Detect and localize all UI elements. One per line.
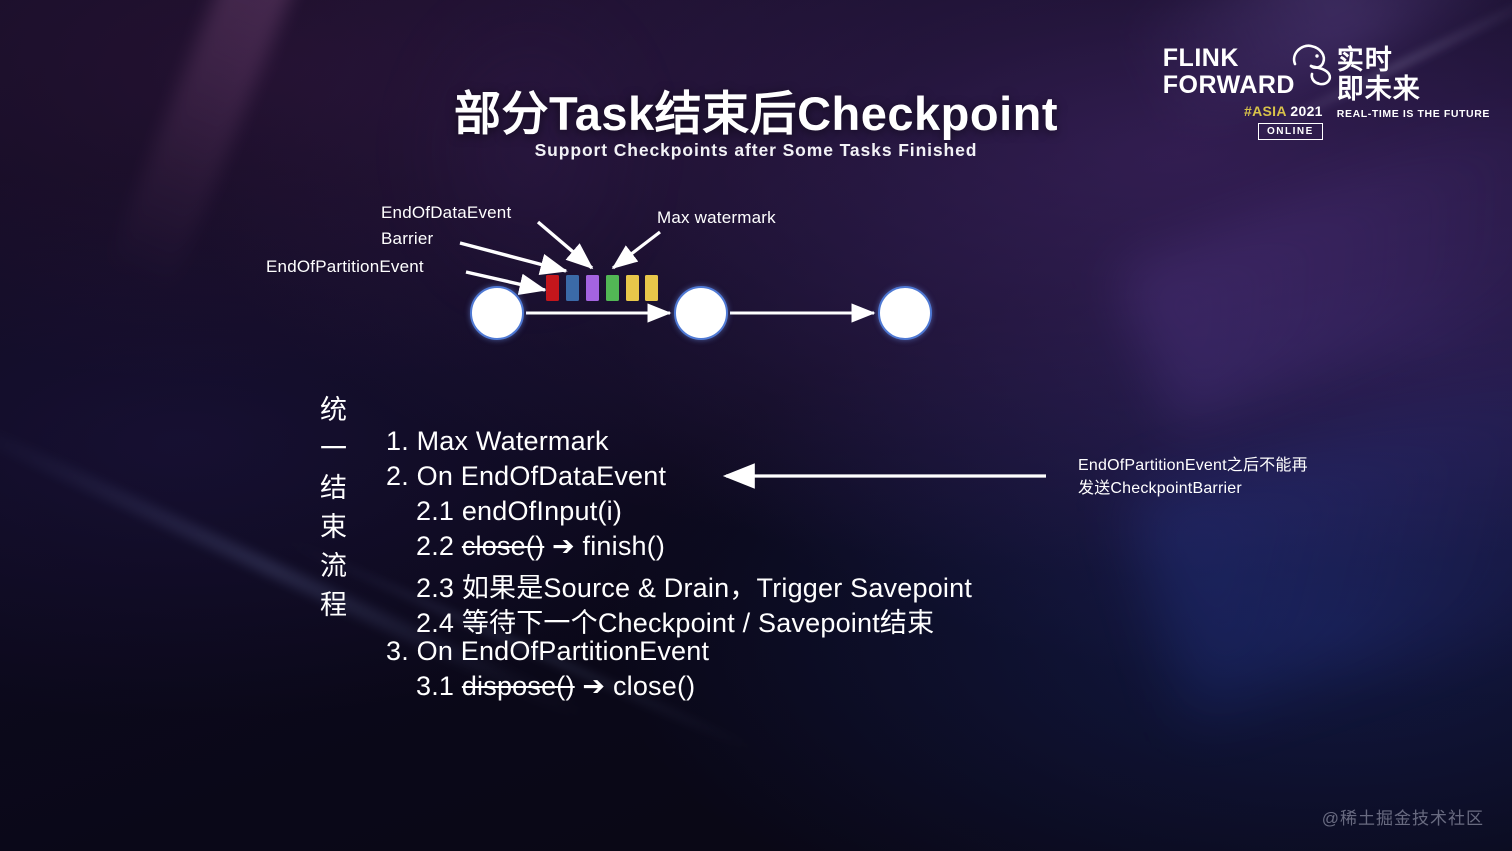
max-watermark-bar: [606, 275, 619, 301]
list-item: 2. On EndOfDataEvent: [386, 461, 666, 492]
list-item: 2.1 endOfInput(i): [416, 496, 622, 527]
list-item-number: 2.2: [416, 531, 454, 561]
record-bar-yellow-1: [626, 275, 639, 301]
page-subtitle: Support Checkpoints after Some Tasks Fin…: [0, 140, 1512, 161]
logo-cn-line1: 实时: [1337, 46, 1490, 75]
list-item: 2.4 等待下一个Checkpoint / Savepoint结束: [416, 601, 934, 640]
task-node-2: [674, 286, 728, 340]
annotation-line-2: 发送CheckpointBarrier: [1078, 477, 1398, 500]
deprecated-method: close(): [462, 531, 544, 561]
side-annotation: EndOfPartitionEvent之后不能再 发送CheckpointBar…: [1078, 454, 1398, 500]
slide-canvas: FLINK FORWARD #ASIA 2021 ONLINE 实时 即未来: [0, 0, 1512, 851]
arrow-glyph: ➔: [552, 531, 575, 561]
annotation-line-1: EndOfPartitionEvent之后不能再: [1078, 454, 1398, 477]
list-item: 3.1 dispose() ➔ close(): [416, 671, 695, 702]
label-max-watermark: Max watermark: [657, 208, 776, 228]
task-node-3: [878, 286, 932, 340]
list-item: 1. Max Watermark: [386, 426, 609, 457]
label-end-of-partition-event: EndOfPartitionEvent: [266, 257, 424, 277]
replacement-method: finish(): [583, 531, 666, 561]
label-end-of-data-event: EndOfDataEvent: [381, 203, 511, 223]
list-item: 3. On EndOfPartitionEvent: [386, 636, 709, 667]
record-bar-yellow-2: [645, 275, 658, 301]
barrier-bar: [586, 275, 599, 301]
record-bar-blue: [566, 275, 579, 301]
list-item-number: 3.1: [416, 671, 454, 701]
page-title: 部分Task结束后Checkpoint: [0, 75, 1512, 144]
task-node-1: [470, 286, 524, 340]
list-item: 2.3 如果是Source & Drain，Trigger Savepoint: [416, 566, 972, 605]
list-heading: 统一结束流程: [320, 388, 348, 622]
replacement-method: close(): [613, 671, 695, 701]
arrow-glyph: ➔: [582, 671, 605, 701]
background-streak: [1127, 371, 1512, 719]
list-item: 2.2 close() ➔ finish(): [416, 531, 665, 562]
site-watermark: @稀土掘金技术社区: [1322, 804, 1484, 829]
end-of-partition-event-bar: [546, 275, 559, 301]
label-barrier: Barrier: [381, 229, 433, 249]
deprecated-method: dispose(): [462, 671, 575, 701]
